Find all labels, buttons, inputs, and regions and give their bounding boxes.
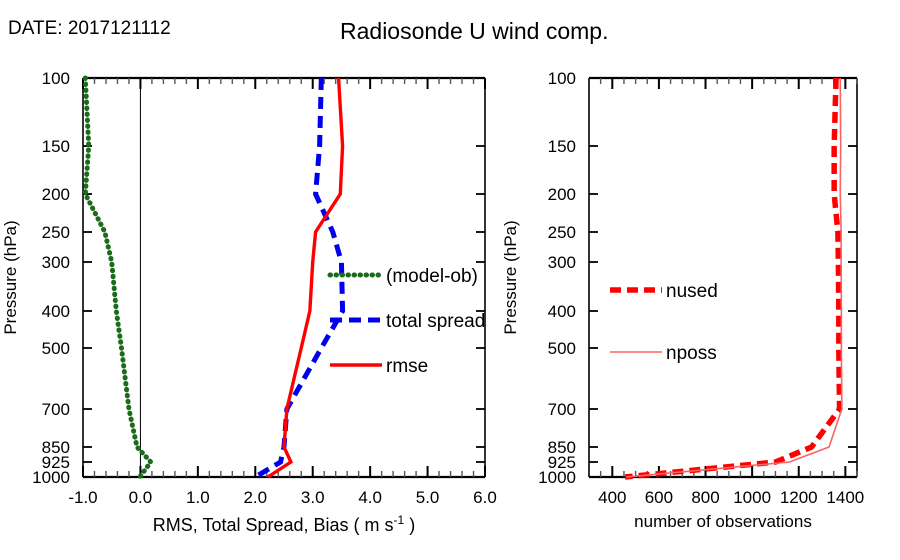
- right-panel: 1001502002503004005007008509251000400600…: [500, 0, 900, 560]
- legend-label: (model-ob): [386, 266, 478, 287]
- series-line: [626, 78, 842, 477]
- x-tick-label: 600: [645, 488, 673, 507]
- x-tick-label: 1200: [780, 488, 818, 507]
- series-line: [255, 78, 342, 477]
- x-axis-title: number of observations: [634, 512, 812, 531]
- y-tick-label: 500: [548, 339, 576, 358]
- y-tick-label: 700: [42, 400, 70, 419]
- y-tick-label: 400: [548, 302, 576, 321]
- y-tick-label: 100: [42, 69, 70, 88]
- x-tick-label: 6.0: [473, 488, 497, 507]
- x-axis-title-superscript: -1: [394, 513, 405, 527]
- x-tick-label: 400: [598, 488, 626, 507]
- left-panel: 1001502002503004005007008509251000-1.00.…: [0, 0, 500, 560]
- y-tick-label: 250: [548, 223, 576, 242]
- legend: (model-ob)total spreadrmse: [330, 266, 485, 377]
- x-tick-label: 2.0: [243, 488, 267, 507]
- x-axis-title: RMS, Total Spread, Bias ( m s-1 ): [153, 513, 415, 535]
- y-axis-title: Pressure (hPa): [501, 220, 520, 334]
- y-tick-label: 200: [548, 185, 576, 204]
- left-plot-svg: 1001502002503004005007008509251000-1.00.…: [0, 0, 500, 560]
- x-tick-label: 1400: [826, 488, 864, 507]
- x-tick-label: 1000: [733, 488, 771, 507]
- legend-label: rmse: [386, 356, 428, 377]
- x-tick-label: 4.0: [358, 488, 382, 507]
- series-line: [268, 78, 343, 477]
- x-tick-label: 5.0: [416, 488, 440, 507]
- series-line: [625, 78, 839, 477]
- legend-label: nposs: [666, 343, 717, 364]
- legend-label: total spread: [386, 311, 485, 332]
- data-series: [85, 78, 342, 477]
- x-tick-label: 3.0: [301, 488, 325, 507]
- y-tick-label: 300: [42, 253, 70, 272]
- y-tick-label: 500: [42, 339, 70, 358]
- series-line: [85, 78, 150, 477]
- y-axis-ticks: 1001502002503004005007008509251000: [538, 69, 857, 487]
- y-axis-title: Pressure (hPa): [1, 220, 20, 334]
- y-tick-label: 250: [42, 223, 70, 242]
- data-series: [625, 78, 842, 477]
- y-tick-label: 150: [42, 137, 70, 156]
- x-axis-ticks: 400600800100012001400: [598, 78, 864, 507]
- x-tick-label: 800: [691, 488, 719, 507]
- y-tick-label: 150: [548, 137, 576, 156]
- y-tick-label: 700: [548, 400, 576, 419]
- chart-page: DATE: 2017121112 Radiosonde U wind comp.…: [0, 0, 900, 560]
- legend: nusednposs: [610, 281, 718, 364]
- right-plot-svg: 1001502002503004005007008509251000400600…: [500, 0, 900, 560]
- x-tick-label: -1.0: [68, 488, 97, 507]
- y-tick-label: 200: [42, 185, 70, 204]
- y-tick-label: 1000: [32, 468, 70, 487]
- legend-label: nused: [666, 281, 718, 302]
- y-tick-label: 300: [548, 253, 576, 272]
- axis-frame: [589, 78, 857, 477]
- y-tick-label: 100: [548, 69, 576, 88]
- x-tick-label: 0.0: [129, 488, 153, 507]
- y-tick-label: 1000: [538, 468, 576, 487]
- x-axis-title-main: RMS, Total Spread, Bias ( m s: [153, 515, 394, 535]
- x-axis-title-tail: ): [404, 515, 415, 535]
- y-tick-label: 400: [42, 302, 70, 321]
- x-tick-label: 1.0: [186, 488, 210, 507]
